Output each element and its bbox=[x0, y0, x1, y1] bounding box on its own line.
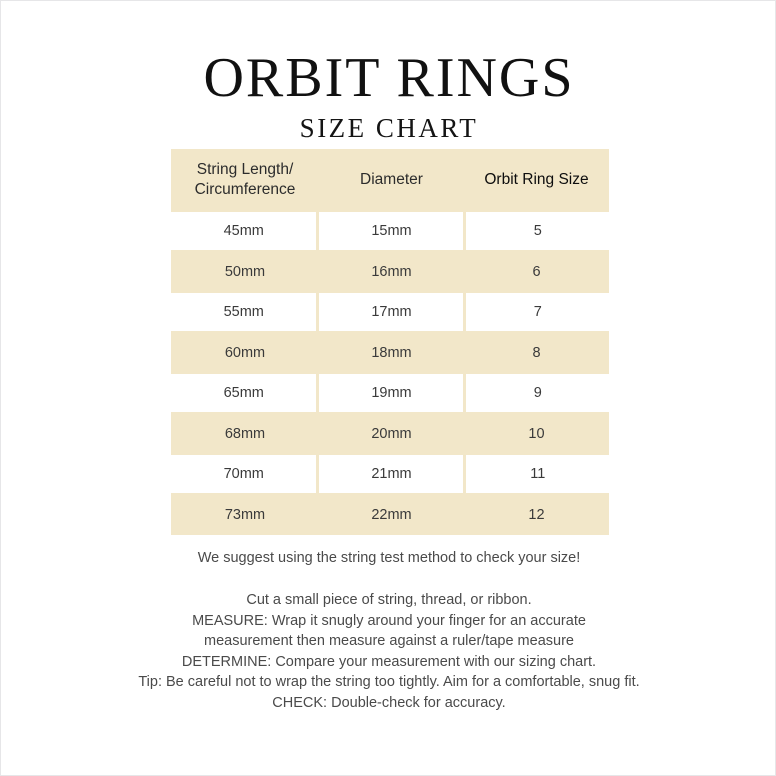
cell-diameter: 22mm bbox=[319, 495, 464, 536]
table-row: 73mm 22mm 12 bbox=[171, 495, 609, 536]
table-row: 70mm 21mm 11 bbox=[171, 454, 609, 495]
cell-diameter: 17mm bbox=[319, 293, 463, 331]
footer-step-line: Cut a small piece of string, thread, or … bbox=[1, 590, 776, 611]
cell-ring-size: 11 bbox=[466, 455, 609, 493]
page-title: ORBIT RINGS bbox=[1, 49, 776, 107]
cell-diameter: 18mm bbox=[319, 333, 464, 374]
cell-ring-size: 7 bbox=[466, 293, 609, 331]
cell-diameter: 15mm bbox=[319, 212, 463, 250]
cell-ring-size: 6 bbox=[464, 252, 609, 293]
page-subtitle: SIZE CHART bbox=[1, 113, 776, 143]
cell-ring-size: 12 bbox=[464, 495, 609, 536]
table-header-row: String Length/ Circumference Diameter Or… bbox=[171, 149, 609, 211]
cell-diameter: 16mm bbox=[319, 252, 464, 293]
table-row: 60mm 18mm 8 bbox=[171, 333, 609, 374]
footer-step-line: CHECK: Double-check for accuracy. bbox=[1, 693, 776, 714]
table-row: 45mm 15mm 5 bbox=[171, 211, 609, 252]
cell-string-length: 50mm bbox=[171, 252, 319, 293]
cell-ring-size: 5 bbox=[466, 212, 609, 250]
cell-string-length: 73mm bbox=[171, 495, 319, 536]
cell-ring-size: 9 bbox=[466, 374, 609, 412]
column-header-line-2: Circumference bbox=[195, 180, 296, 200]
cell-string-length: 55mm bbox=[171, 293, 316, 331]
footer-step-line: Tip: Be careful not to wrap the string t… bbox=[1, 672, 776, 693]
footer-step-line: MEASURE: Wrap it snugly around your fing… bbox=[1, 611, 776, 632]
size-chart-page: ORBIT RINGS SIZE CHART String Length/ Ci… bbox=[0, 0, 776, 776]
cell-ring-size: 8 bbox=[464, 333, 609, 374]
cell-string-length: 45mm bbox=[171, 212, 316, 250]
cell-diameter: 19mm bbox=[319, 374, 463, 412]
cell-ring-size: 10 bbox=[464, 414, 609, 455]
cell-diameter: 20mm bbox=[319, 414, 464, 455]
footer-steps-list: Cut a small piece of string, thread, or … bbox=[1, 590, 776, 713]
footer-lead-text: We suggest using the string test method … bbox=[1, 548, 776, 568]
cell-diameter: 21mm bbox=[319, 455, 463, 493]
column-header-diameter: Diameter bbox=[319, 149, 464, 211]
footer-instructions: We suggest using the string test method … bbox=[1, 548, 776, 713]
cell-string-length: 65mm bbox=[171, 374, 316, 412]
column-header-line-1: String Length/ bbox=[195, 160, 296, 180]
table-row: 68mm 20mm 10 bbox=[171, 414, 609, 455]
column-header-string-length: String Length/ Circumference bbox=[171, 149, 319, 211]
title-block: ORBIT RINGS SIZE CHART bbox=[1, 49, 776, 143]
cell-string-length: 70mm bbox=[171, 455, 316, 493]
cell-string-length: 60mm bbox=[171, 333, 319, 374]
cell-string-length: 68mm bbox=[171, 414, 319, 455]
column-header-orbit-ring-size: Orbit Ring Size bbox=[464, 149, 609, 211]
footer-step-line: DETERMINE: Compare your measurement with… bbox=[1, 652, 776, 673]
size-chart-table: String Length/ Circumference Diameter Or… bbox=[171, 149, 609, 535]
table-row: 55mm 17mm 7 bbox=[171, 292, 609, 333]
table-row: 50mm 16mm 6 bbox=[171, 252, 609, 293]
footer-step-line: measurement then measure against a ruler… bbox=[1, 631, 776, 652]
table-row: 65mm 19mm 9 bbox=[171, 373, 609, 414]
